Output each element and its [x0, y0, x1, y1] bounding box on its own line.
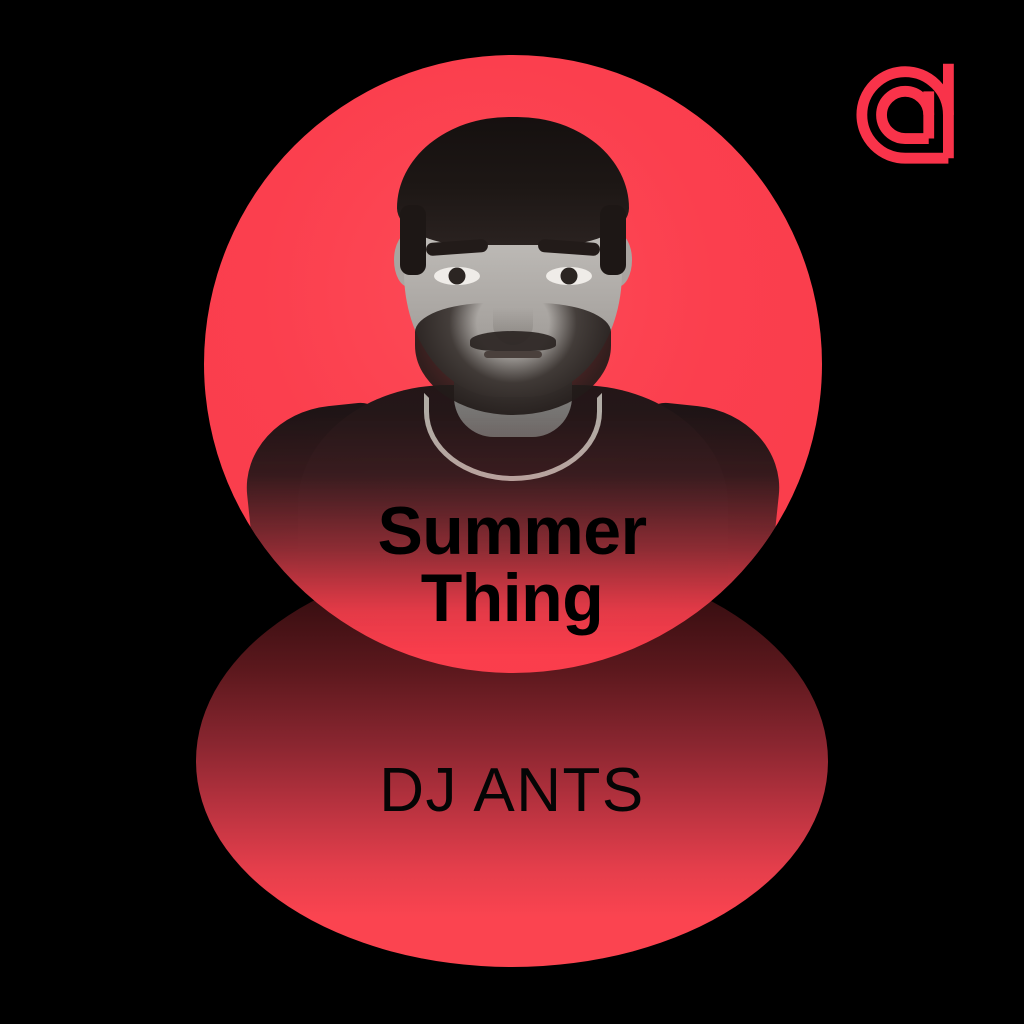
track-title-line-1: Summer: [0, 498, 1024, 565]
track-title: Summer Thing: [0, 498, 1024, 631]
portrait-eye-left: [434, 267, 480, 285]
portrait-eye-right: [546, 267, 592, 285]
album-cover: Summer Thing DJ ANTS: [0, 0, 1024, 1024]
audiomack-a-logo-svg: [854, 52, 972, 170]
portrait-hair: [397, 117, 629, 245]
portrait-sideburn-right: [600, 205, 626, 275]
portrait-mustache: [470, 331, 556, 351]
portrait-mouth: [484, 351, 542, 358]
audiomack-a-logo-icon[interactable]: [854, 52, 972, 170]
artist-name: DJ ANTS: [0, 760, 1024, 822]
track-title-line-2: Thing: [0, 565, 1024, 632]
portrait-iris-right: [561, 268, 578, 285]
portrait-sideburn-left: [400, 205, 426, 275]
portrait-iris-left: [449, 268, 466, 285]
